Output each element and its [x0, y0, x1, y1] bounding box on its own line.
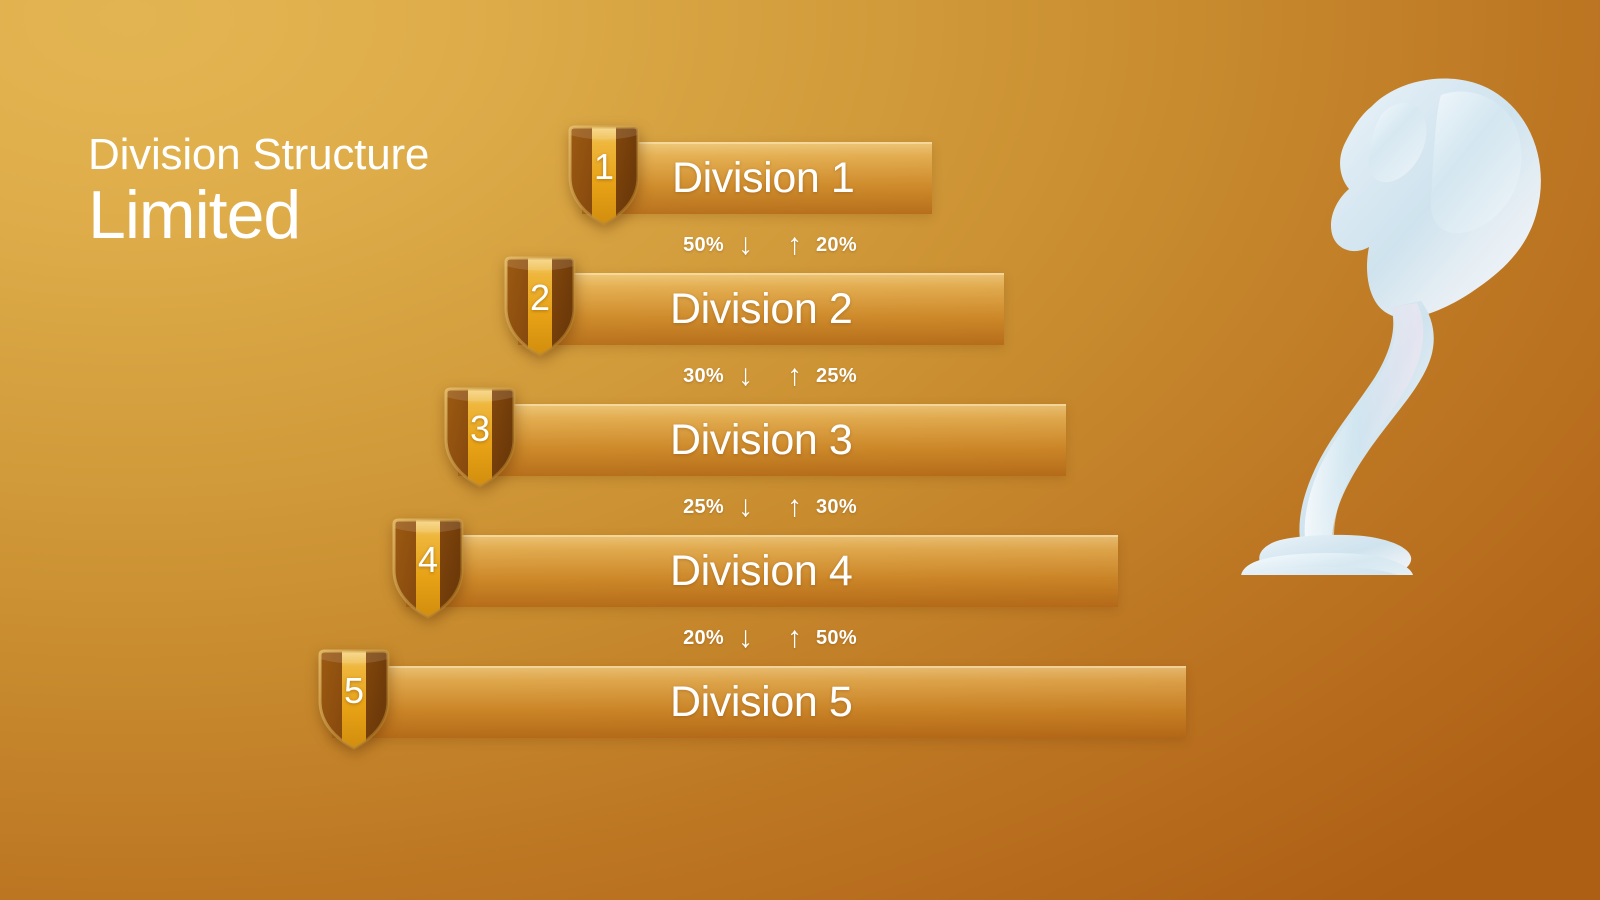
transfer-row: 25% ↓ ↑ 30%	[600, 490, 940, 524]
shield-rank: 1	[566, 125, 642, 209]
page-title: Division Structure Limited	[88, 133, 429, 249]
arrow-down-icon: ↓	[738, 492, 753, 522]
promotion-percent: 50%	[816, 627, 857, 650]
shield-icon: 4	[390, 518, 466, 620]
division-row[interactable]: Division 3	[458, 404, 1066, 476]
promotion-percent: 25%	[816, 365, 857, 388]
division-row[interactable]: Division 4	[406, 535, 1118, 607]
arrow-down-icon: ↓	[738, 361, 753, 391]
title-line-2: Limited	[88, 181, 429, 249]
relegation-percent: 20%	[683, 627, 724, 650]
shield-icon: 2	[502, 256, 578, 358]
promotion-percent: 30%	[816, 496, 857, 519]
transfer-row: 50% ↓ ↑ 20%	[600, 228, 940, 262]
arrow-down-icon: ↓	[738, 230, 753, 260]
division-label: Division 3	[670, 404, 852, 476]
arrow-up-icon: ↑	[787, 230, 802, 260]
shield-icon: 5	[316, 649, 392, 751]
relegation-percent: 30%	[683, 365, 724, 388]
division-label: Division 4	[670, 535, 852, 607]
shield-icon: 3	[442, 387, 518, 489]
shield-rank: 3	[442, 387, 518, 471]
division-label: Division 5	[670, 666, 852, 738]
promotion-percent: 20%	[816, 234, 857, 257]
shield-rank: 5	[316, 649, 392, 733]
transfer-row: 30% ↓ ↑ 25%	[600, 359, 940, 393]
shield-rank: 4	[390, 518, 466, 602]
arrow-up-icon: ↑	[787, 623, 802, 653]
division-row[interactable]: Division 2	[518, 273, 1004, 345]
relegation-percent: 50%	[683, 234, 724, 257]
shield-icon: 1	[566, 125, 642, 227]
transfer-row: 20% ↓ ↑ 50%	[600, 621, 940, 655]
division-row[interactable]: Division 1	[582, 142, 932, 214]
division-label: Division 1	[672, 142, 854, 214]
title-line-1: Division Structure	[88, 133, 429, 177]
division-label: Division 2	[670, 273, 852, 345]
division-row[interactable]: Division 5	[332, 666, 1186, 738]
relegation-percent: 25%	[683, 496, 724, 519]
shield-rank: 2	[502, 256, 578, 340]
arrow-down-icon: ↓	[738, 623, 753, 653]
arrow-up-icon: ↑	[787, 361, 802, 391]
arrow-up-icon: ↑	[787, 492, 802, 522]
slide-canvas: Division Structure Limited Division 1	[0, 0, 1600, 900]
